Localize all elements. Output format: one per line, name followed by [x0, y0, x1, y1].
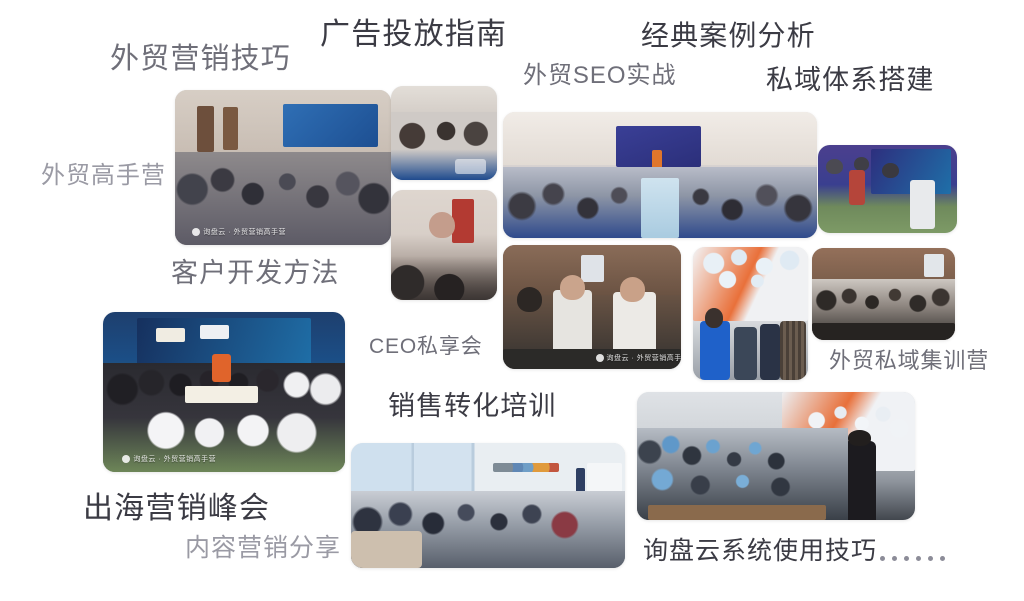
door-panel-2: [223, 107, 238, 150]
photo-watermark: 询盘云 · 外贸营销高手营: [192, 227, 286, 237]
ellipsis-dot: [880, 556, 885, 561]
wall-icons: [493, 463, 559, 472]
person-head-c: [620, 277, 645, 302]
label-kehu-kaifa-fangfa: 客户开发方法: [171, 259, 339, 289]
person-head-b: [560, 275, 585, 300]
wall-poster: [924, 254, 944, 278]
label-ceo-sixianghui: CEO私享会: [369, 335, 483, 358]
stage-screen: [283, 104, 378, 147]
label-waimao-siyu-jixunying: 外贸私域集训营: [829, 349, 989, 373]
label-neirong-yingxiao-fenxi: 内容营销分享: [185, 535, 341, 563]
person-plaid: [780, 321, 805, 380]
collage-canvas: 询盘云 · 外贸营销高手营: [0, 0, 1024, 601]
ellipsis-dot: [928, 556, 933, 561]
speaker-head: [429, 212, 454, 238]
person-head-a: [517, 287, 542, 312]
watermark-text: 询盘云 · 外贸营销高手营: [203, 227, 286, 237]
label-guanggao-touf-zhinan: 广告投放指南: [320, 18, 507, 51]
photo-scene: [503, 245, 681, 369]
watermark-logo-icon: [122, 455, 130, 463]
person-navy: [760, 324, 781, 380]
label-waimao-gaoshou-ying: 外贸高手营: [41, 163, 166, 189]
ellipsis-dot: [904, 556, 909, 561]
person-head-a: [705, 308, 723, 328]
person-head-a: [826, 159, 843, 174]
desk-row: [812, 323, 955, 340]
person-red-shirt: [849, 170, 866, 205]
label-xunpanyun-xitong: 询盘云系统使用技巧: [643, 538, 877, 566]
poster-banner: [452, 199, 473, 243]
photo-watermark: 询盘云 · 外贸营销高手营: [122, 454, 216, 464]
watermark-logo-icon: [596, 354, 604, 362]
held-sign-a: [156, 328, 185, 342]
table-bottles: [455, 159, 487, 174]
photo-scene: [391, 190, 497, 300]
photo-scene: [503, 112, 817, 238]
wall-poster: [581, 255, 604, 282]
label-jingdian-anli-fenxi: 经典案例分析: [641, 21, 816, 52]
photo-scene: [175, 90, 391, 245]
chair-row: [351, 531, 422, 569]
photo-conference-hall-main[interactable]: 询盘云 · 外贸营销高手营: [175, 90, 391, 245]
ellipsis-dots: [880, 556, 945, 561]
photo-seated-workshop[interactable]: [391, 86, 497, 180]
photo-hexagon-wall-talk[interactable]: [693, 247, 808, 380]
photo-scene: [637, 392, 915, 520]
photo-masked-audience[interactable]: [637, 392, 915, 520]
photo-scene: [103, 312, 345, 472]
photo-scene: [693, 247, 808, 380]
held-sign-center: [185, 386, 258, 404]
person-dark-a: [734, 327, 757, 380]
photo-woman-microphone[interactable]: [391, 190, 497, 300]
photo-team-group[interactable]: 询盘云 · 外贸营销高手营: [103, 312, 345, 472]
ellipsis-dot: [940, 556, 945, 561]
photo-scene: [812, 248, 955, 340]
photo-watermark: 询盘云 · 外贸营销高手营: [596, 353, 681, 363]
person-head-c: [882, 163, 899, 179]
photo-lecture-window[interactable]: [351, 443, 625, 568]
photo-scene: [818, 145, 957, 233]
center-aisle: [641, 178, 679, 238]
label-waimao-yingxiao-jiqiao: 外贸营销技巧: [110, 44, 291, 76]
photo-scene: [391, 86, 497, 180]
photo-scene: [351, 443, 625, 568]
photo-handshake-blue-banner[interactable]: [818, 145, 957, 233]
label-waimao-seo-shizhan: 外贸SEO实战: [523, 63, 676, 89]
person-white-shirt: [910, 180, 935, 228]
ellipsis-dot: [892, 556, 897, 561]
bench-row: [648, 505, 826, 520]
label-xiaoshou-zhuanhua: 销售转化培训: [388, 392, 556, 422]
photo-big-auditorium[interactable]: [503, 112, 817, 238]
door-panel: [197, 106, 214, 153]
watermark-text: 询盘云 · 外贸营销高手营: [607, 353, 681, 363]
ellipsis-dot: [916, 556, 921, 561]
label-siyu-tixi-dajian: 私域体系搭建: [766, 66, 934, 96]
photo-audience-phones[interactable]: 询盘云 · 外贸营销高手营: [503, 245, 681, 369]
held-sign-b: [200, 325, 229, 339]
label-chuhai-yingxiao-fenghui: 出海营销峰会: [83, 492, 270, 525]
audience-crowd: [391, 256, 497, 300]
speaker-head: [848, 430, 870, 445]
watermark-text: 询盘云 · 外贸营销高手营: [133, 454, 216, 464]
person-blue-jacket: [700, 321, 730, 380]
photo-classroom-tables[interactable]: [812, 248, 955, 340]
person-orange-shirt: [212, 354, 231, 383]
watermark-logo-icon: [192, 228, 200, 236]
